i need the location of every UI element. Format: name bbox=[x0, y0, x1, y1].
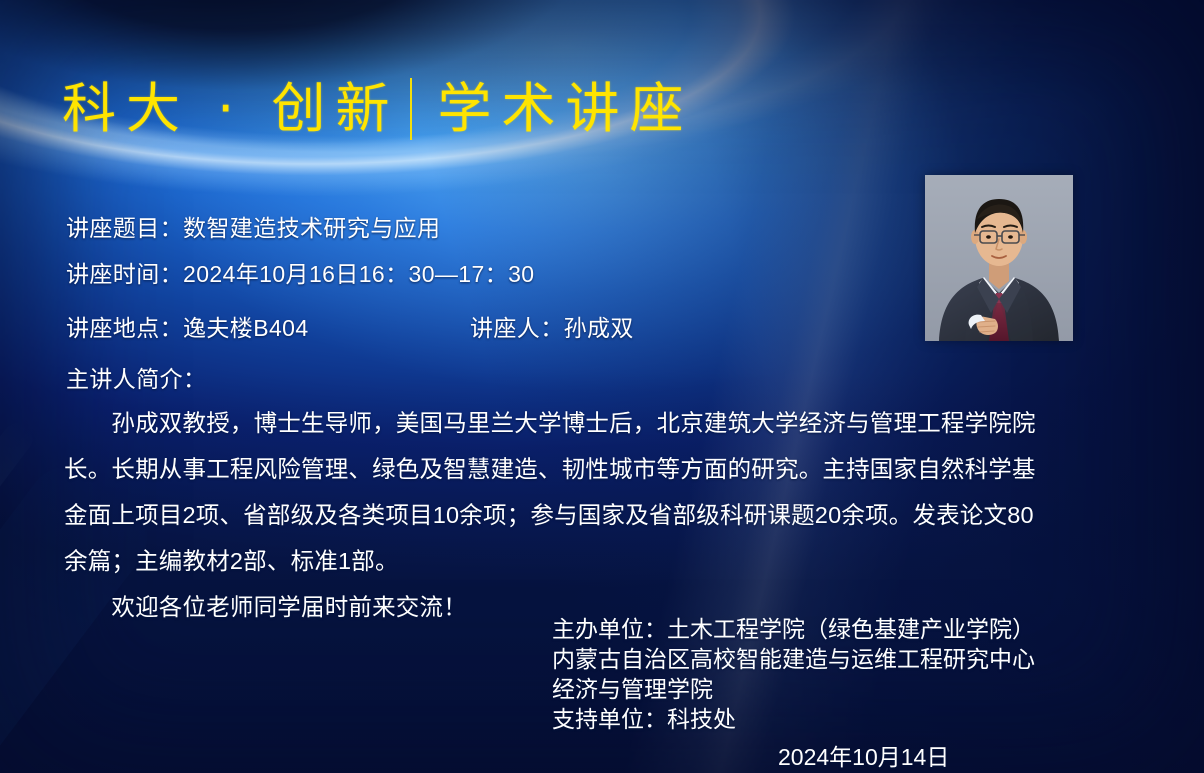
bio-line: 金面上项目2项、省部级及各类项目10余项；参与国家及省部级科研课题20余项。发表… bbox=[64, 492, 1146, 538]
poster-date: 2024年10月14日 bbox=[778, 738, 949, 772]
poster-title: 科大 · 创新 学术讲座 bbox=[62, 78, 694, 140]
speaker-portrait-photo bbox=[925, 175, 1073, 341]
bio-line: 孙成双教授，博士生导师，美国马里兰大学博士后，北京建筑大学经济与管理工程学院院 bbox=[64, 400, 1146, 446]
welcome-line: 欢迎各位老师同学届时前来交流！ bbox=[64, 588, 467, 622]
lecture-time-line: 讲座时间：2024年10月16日16：30—17：30 bbox=[66, 255, 534, 289]
speaker-bio-paragraph: 孙成双教授，博士生导师，美国马里兰大学博士后，北京建筑大学经济与管理工程学院院 … bbox=[64, 400, 1146, 584]
portrait-illustration bbox=[925, 175, 1073, 341]
organizer-line: 主办单位：土木工程学院（绿色基建产业学院） bbox=[552, 614, 1035, 644]
bio-line: 余篇；主编教材2部、标准1部。 bbox=[64, 538, 1146, 584]
bio-line: 长。长期从事工程风险管理、绿色及智慧建造、韧性城市等方面的研究。主持国家自然科学… bbox=[64, 446, 1146, 492]
organizer-line: 支持单位：科技处 bbox=[552, 704, 1035, 734]
title-separator bbox=[410, 78, 412, 140]
lecture-poster: 科大 · 创新 学术讲座 讲座题目：数智建造技术研究与应用 讲座时间：2024年… bbox=[0, 0, 1204, 773]
lecture-speaker-line: 讲座人：孙成双 bbox=[470, 309, 634, 343]
lecture-topic-line: 讲座题目：数智建造技术研究与应用 bbox=[66, 209, 440, 243]
title-right-text: 学术讲座 bbox=[438, 82, 694, 136]
title-left-text: 科大 · 创新 bbox=[62, 82, 400, 136]
lecture-place-line: 讲座地点：逸夫楼B404 bbox=[66, 309, 309, 343]
organizer-line: 内蒙古自治区高校智能建造与运维工程研究中心 bbox=[552, 644, 1035, 674]
speaker-bio-label: 主讲人简介： bbox=[66, 360, 206, 394]
organizer-line: 经济与管理学院 bbox=[552, 674, 1035, 704]
organizer-block: 主办单位：土木工程学院（绿色基建产业学院） 内蒙古自治区高校智能建造与运维工程研… bbox=[552, 614, 1035, 734]
